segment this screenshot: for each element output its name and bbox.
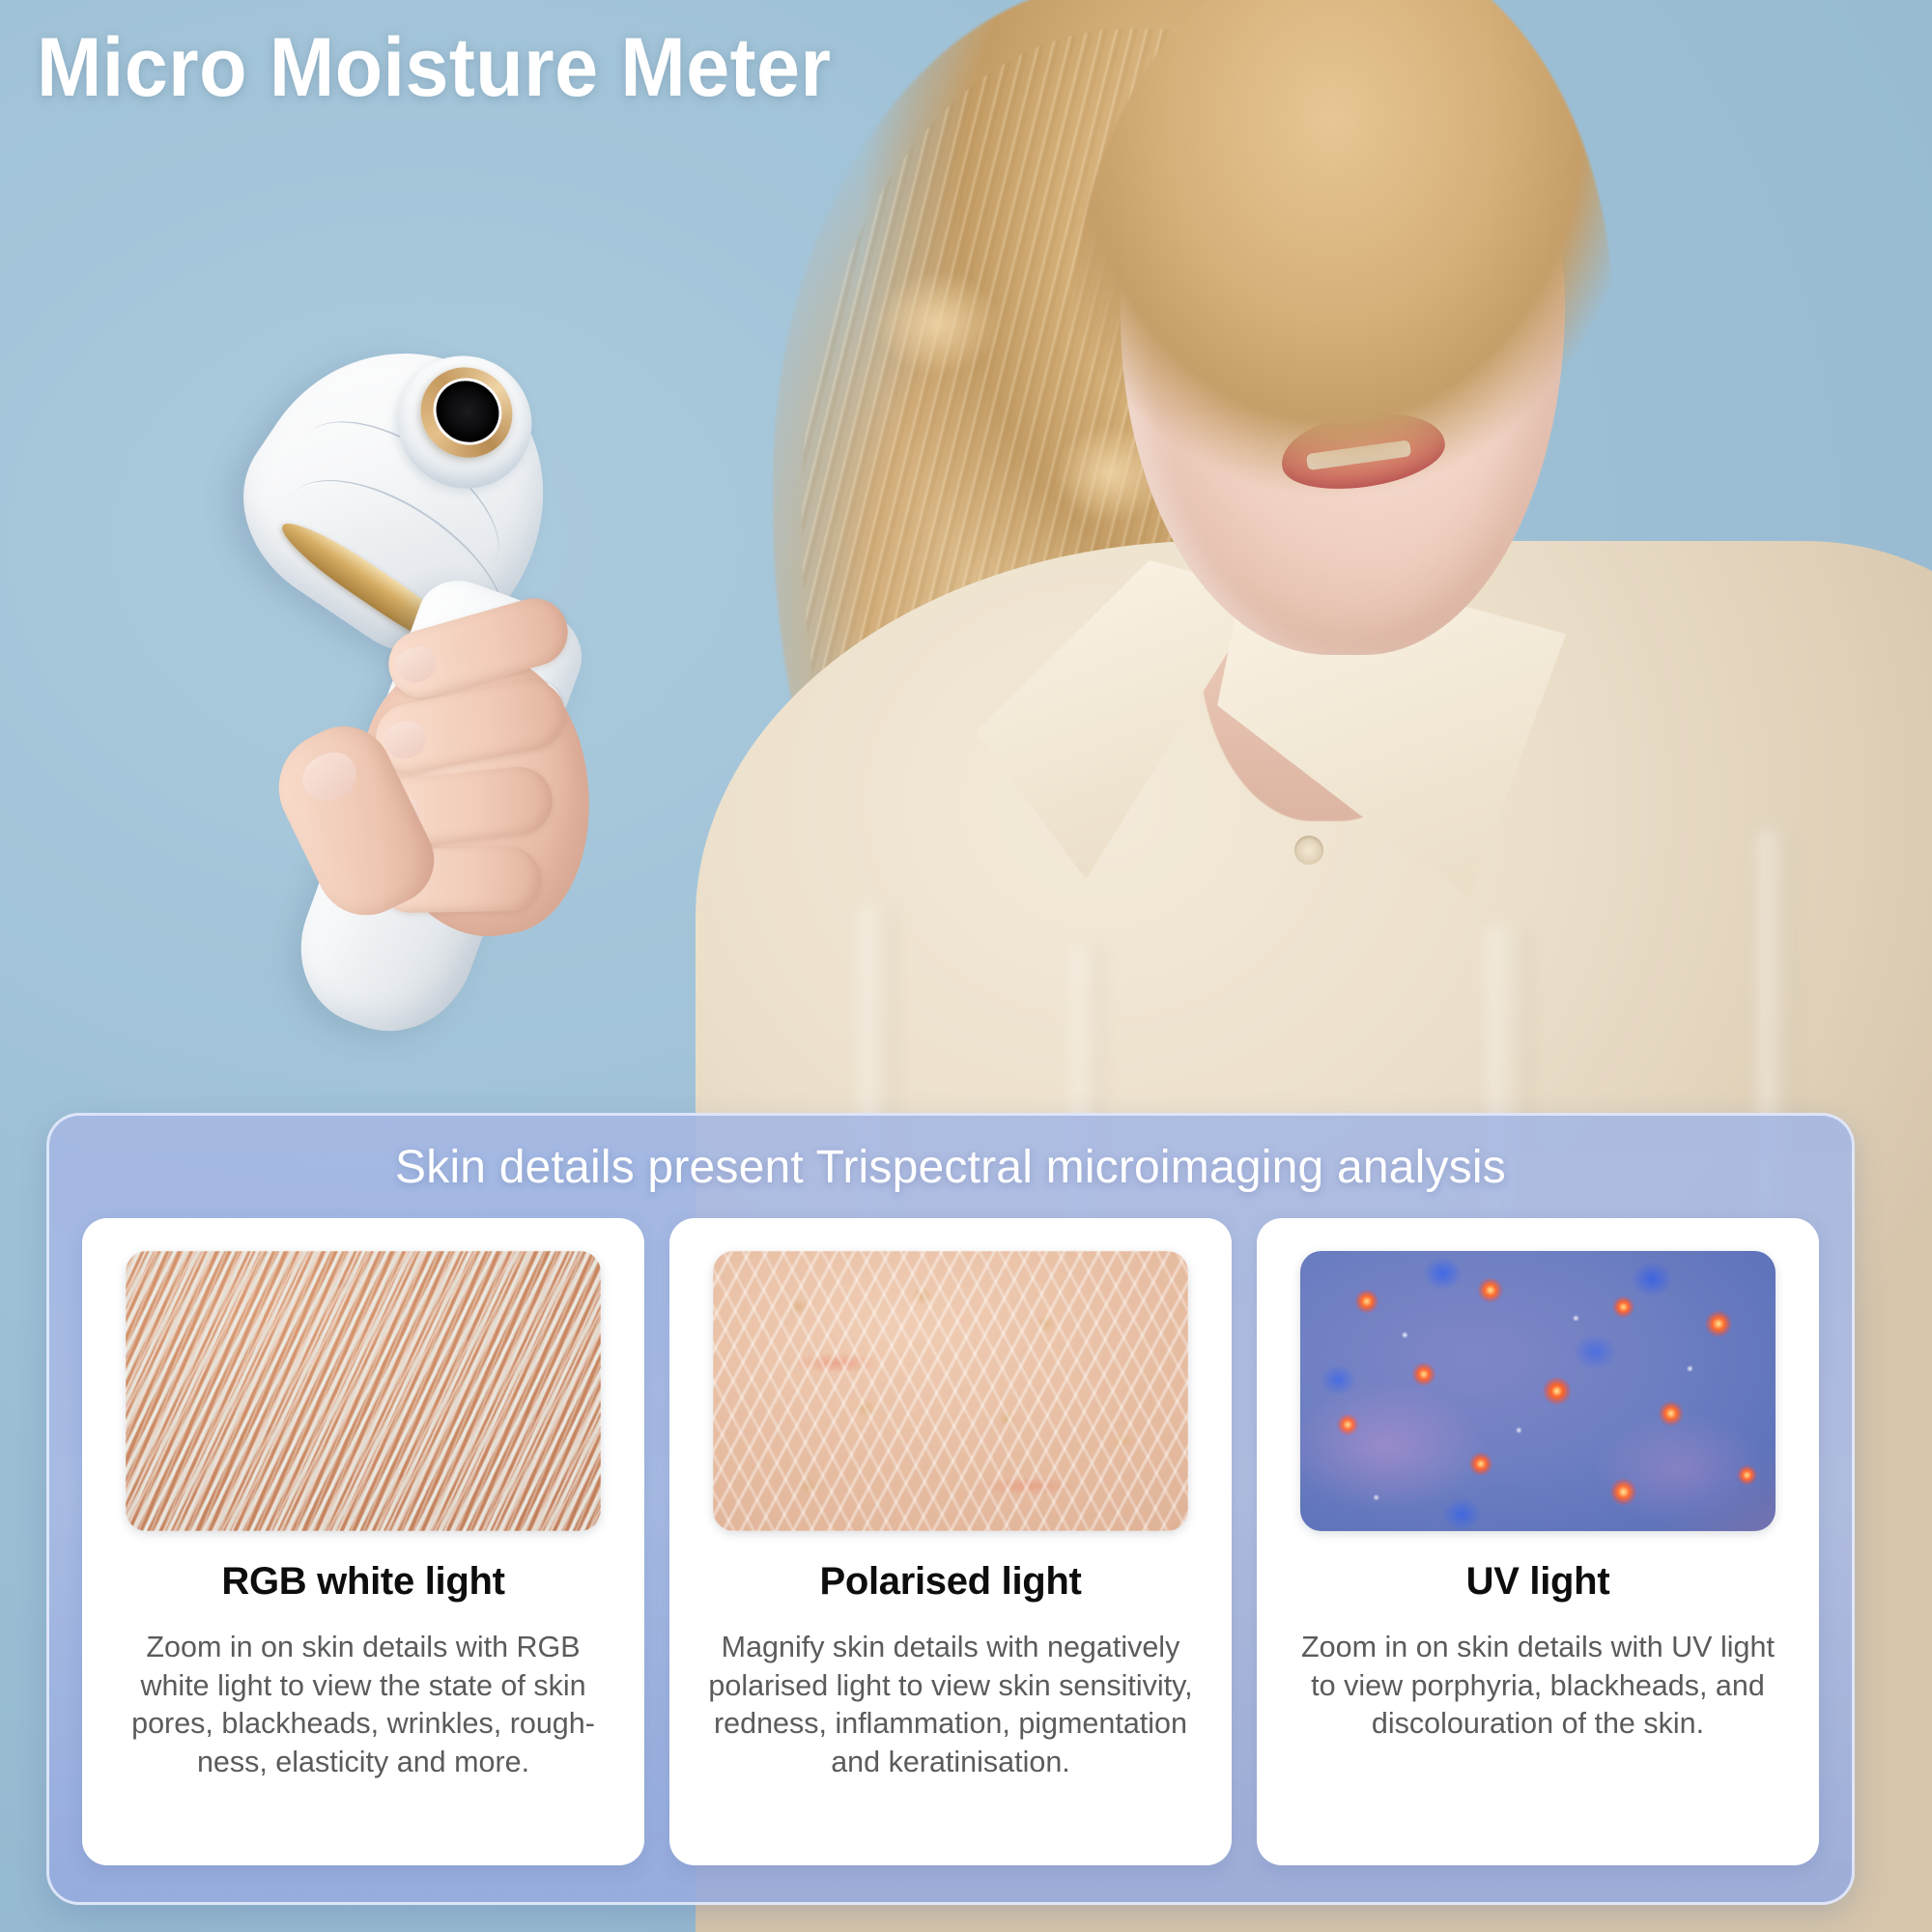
panel-heading: Skin details present Trispectral microim… <box>49 1141 1852 1194</box>
card-body: Zoom in on skin details with UV light to… <box>1287 1629 1789 1744</box>
hand-holding-device <box>270 599 676 1024</box>
thumb-wrap <box>1300 1251 1776 1531</box>
card-title: RGB white light <box>221 1560 504 1604</box>
card-body: Zoom in on skin details with RGB white l… <box>112 1629 614 1782</box>
page-title: Micro Moisture Meter <box>37 23 831 113</box>
card-body: Magnify skin details with negatively pol… <box>699 1629 1202 1782</box>
polarised-light-skin-sample <box>713 1251 1188 1531</box>
rgb-white-light-skin-sample <box>126 1251 601 1531</box>
card-list: RGB white light Zoom in on skin details … <box>82 1218 1819 1865</box>
thumbnail <box>296 745 364 810</box>
skin-texture-polarised <box>713 1251 1188 1531</box>
card-title: UV light <box>1466 1560 1610 1604</box>
trispectral-panel: Skin details present Trispectral microim… <box>46 1113 1855 1905</box>
hair-curl <box>850 251 1024 396</box>
uv-light-skin-sample <box>1300 1251 1776 1531</box>
skin-texture-uv <box>1300 1251 1776 1531</box>
card-uv-light[interactable]: UV light Zoom in on skin details with UV… <box>1257 1218 1819 1865</box>
skin-texture-rgb <box>126 1251 601 1531</box>
fingernail <box>392 642 440 687</box>
card-rgb-white-light[interactable]: RGB white light Zoom in on skin details … <box>82 1218 644 1865</box>
blouse-button <box>1294 836 1323 865</box>
thumb-wrap <box>126 1251 601 1531</box>
product-hero-scene: Micro Moisture Meter Skin details presen… <box>0 0 1932 1932</box>
thumb-wrap <box>713 1251 1188 1531</box>
card-title: Polarised light <box>819 1560 1081 1604</box>
card-polarised-light[interactable]: Polarised light Magnify skin details wit… <box>669 1218 1232 1865</box>
